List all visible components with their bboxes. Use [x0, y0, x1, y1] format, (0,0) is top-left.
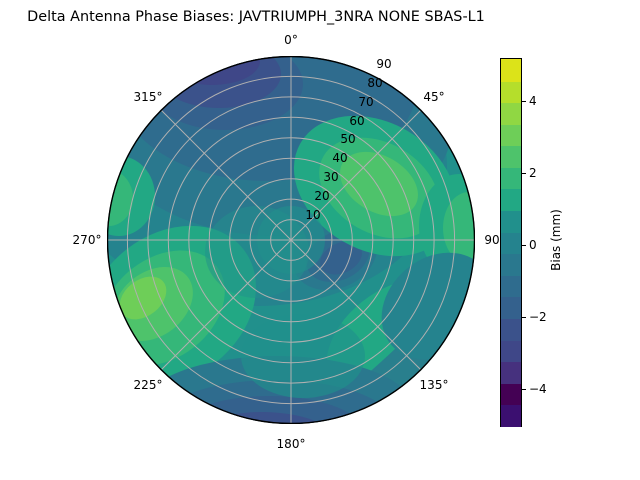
colorbar-band: [501, 145, 521, 168]
colorbar-band: [501, 253, 521, 276]
theta-label-225: 225°: [134, 378, 163, 392]
colorbar-band: [501, 340, 521, 363]
colorbar-band: [501, 361, 521, 384]
r-label-90: 90: [376, 57, 391, 71]
r-label-70: 70: [358, 95, 373, 109]
theta-label-135: 135°: [420, 378, 449, 392]
colorbar-band: [501, 318, 521, 341]
r-label-80: 80: [367, 76, 382, 90]
colorbar-tick-label: −2: [529, 310, 547, 324]
colorbar-band: [501, 210, 521, 233]
colorbar-band: [501, 404, 521, 427]
colorbar-tick-label: −4: [529, 382, 547, 396]
theta-label-45: 45°: [423, 90, 444, 104]
theta-label-315: 315°: [134, 90, 163, 104]
polar-plot: [107, 56, 475, 424]
colorbar-band: [501, 296, 521, 319]
colorbar-tick-label: 0: [529, 238, 537, 252]
r-label-60: 60: [349, 114, 364, 128]
colorbar-band: [501, 189, 521, 212]
theta-label-270: 270°: [73, 233, 102, 247]
r-label-10: 10: [305, 208, 320, 222]
colorbar-gradient: [500, 58, 522, 427]
colorbar-tick: [522, 245, 526, 246]
theta-label-0: 0°: [284, 33, 298, 47]
colorbar-tick: [522, 389, 526, 390]
colorbar-band: [501, 167, 521, 190]
r-label-50: 50: [340, 132, 355, 146]
colorbar-band: [501, 232, 521, 255]
colorbar-band: [501, 124, 521, 147]
theta-label-90: 90: [484, 233, 499, 247]
polar-contour-svg: [107, 56, 475, 424]
colorbar-tick-label: 2: [529, 166, 537, 180]
colorbar-band: [501, 383, 521, 406]
colorbar-tick: [522, 173, 526, 174]
page-title: Delta Antenna Phase Biases: JAVTRIUMPH_3…: [0, 9, 512, 25]
r-label-20: 20: [314, 189, 329, 203]
r-label-40: 40: [332, 151, 347, 165]
colorbar-tick-label: 4: [529, 94, 537, 108]
colorbar-tick: [522, 317, 526, 318]
colorbar-band: [501, 81, 521, 104]
polar-grid: [107, 56, 475, 424]
colorbar-band: [501, 59, 521, 60]
theta-label-180: 180°: [277, 437, 306, 451]
colorbar-band: [501, 59, 521, 82]
colorbar-band: [501, 275, 521, 298]
colorbar: −4−2024: [500, 58, 522, 427]
colorbar-title: Bias (mm): [549, 209, 563, 271]
colorbar-tick: [522, 101, 526, 102]
colorbar-band: [501, 102, 521, 125]
r-label-30: 30: [323, 170, 338, 184]
